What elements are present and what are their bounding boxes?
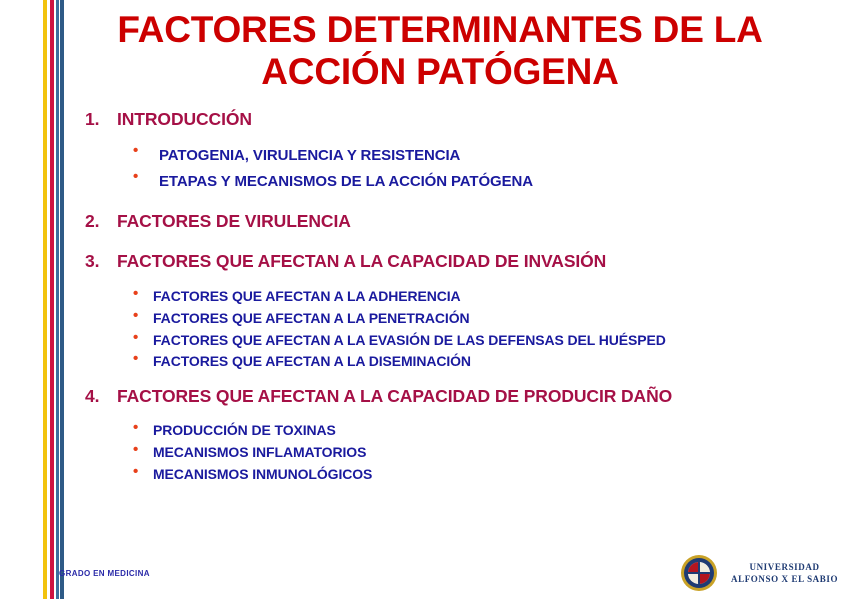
- outline-item-3-sublist: • FACTORES QUE AFECTAN A LA ADHERENCIA •…: [0, 286, 848, 373]
- list-item: • MECANISMOS INMUNOLÓGICOS: [0, 464, 848, 486]
- slide-title: FACTORES DETERMINANTES DE LA ACCIÓN PATÓ…: [70, 9, 810, 93]
- university-logo: UNIVERSIDAD ALFONSO X EL SABIO: [681, 555, 838, 591]
- outline-item-1-title: INTRODUCCIÓN: [117, 108, 767, 130]
- list-item: • PATOGENIA, VIRULENCIA Y RESISTENCIA: [0, 143, 848, 169]
- sub-item-label: MECANISMOS INMUNOLÓGICOS: [153, 464, 753, 486]
- footer-program-label: GRADO EN MEDICINA: [59, 569, 150, 578]
- university-logo-text: UNIVERSIDAD ALFONSO X EL SABIO: [731, 561, 838, 585]
- university-name-line-1: UNIVERSIDAD: [731, 561, 838, 573]
- list-item: • MECANISMOS INFLAMATORIOS: [0, 442, 848, 464]
- spacer-1: [0, 130, 848, 143]
- crest-quarter-bottom-right: [699, 573, 710, 584]
- list-item: • ETAPAS Y MECANISMOS DE LA ACCIÓN PATÓG…: [0, 169, 848, 195]
- outline-body: 1. INTRODUCCIÓN • PATOGENIA, VIRULENCIA …: [0, 108, 848, 485]
- university-name-line-2: ALFONSO X EL SABIO: [731, 573, 838, 585]
- list-item: • FACTORES QUE AFECTAN A LA DISEMINACIÓN: [0, 351, 848, 373]
- bullet-icon: •: [0, 464, 153, 479]
- slide-title-line-2: ACCIÓN PATÓGENA: [70, 51, 810, 93]
- bullet-icon: •: [0, 169, 159, 184]
- sub-item-label: PRODUCCIÓN DE TOXINAS: [153, 420, 753, 442]
- sub-item-label: ETAPAS Y MECANISMOS DE LA ACCIÓN PATÓGEN…: [159, 169, 779, 195]
- outline-item-2: 2. FACTORES DE VIRULENCIA: [0, 210, 848, 232]
- spacer-5: [0, 373, 848, 385]
- sub-item-label: FACTORES QUE AFECTAN A LA DISEMINACIÓN: [153, 351, 753, 373]
- outline-item-3-title: FACTORES QUE AFECTAN A LA CAPACIDAD DE I…: [117, 250, 767, 272]
- bullet-icon: •: [0, 286, 153, 301]
- spacer-2: [0, 194, 848, 210]
- sub-item-label: FACTORES QUE AFECTAN A LA ADHERENCIA: [153, 286, 753, 308]
- outline-item-3: 3. FACTORES QUE AFECTAN A LA CAPACIDAD D…: [0, 250, 848, 272]
- slide: FACTORES DETERMINANTES DE LA ACCIÓN PATÓ…: [0, 0, 848, 599]
- list-item: • FACTORES QUE AFECTAN A LA PENETRACIÓN: [0, 308, 848, 330]
- outline-item-4-sublist: • PRODUCCIÓN DE TOXINAS • MECANISMOS INF…: [0, 420, 848, 485]
- list-item: • FACTORES QUE AFECTAN A LA ADHERENCIA: [0, 286, 848, 308]
- outline-item-1-sublist: • PATOGENIA, VIRULENCIA Y RESISTENCIA • …: [0, 143, 848, 194]
- sub-item-label: PATOGENIA, VIRULENCIA Y RESISTENCIA: [159, 143, 779, 169]
- spacer-3: [0, 233, 848, 250]
- outline-item-4-number: 4.: [0, 385, 117, 407]
- bullet-icon: •: [0, 420, 153, 435]
- bullet-icon: •: [0, 143, 159, 158]
- sub-item-label: MECANISMOS INFLAMATORIOS: [153, 442, 753, 464]
- crest-cross-horizontal: [688, 572, 710, 574]
- outline-item-1: 1. INTRODUCCIÓN: [0, 108, 848, 130]
- crest-shield: [688, 562, 710, 584]
- spacer-6: [0, 407, 848, 420]
- outline-item-3-number: 3.: [0, 250, 117, 272]
- outline-item-2-title: FACTORES DE VIRULENCIA: [117, 210, 767, 232]
- bullet-icon: •: [0, 308, 153, 323]
- outline-item-1-number: 1.: [0, 108, 117, 130]
- outline-item-4-title: FACTORES QUE AFECTAN A LA CAPACIDAD DE P…: [117, 385, 767, 407]
- sub-item-label: FACTORES QUE AFECTAN A LA EVASIÓN DE LAS…: [153, 330, 753, 352]
- university-crest-icon: [681, 555, 717, 591]
- bullet-icon: •: [0, 330, 153, 345]
- list-item: • FACTORES QUE AFECTAN A LA EVASIÓN DE L…: [0, 330, 848, 352]
- bullet-icon: •: [0, 351, 153, 366]
- outline-item-4: 4. FACTORES QUE AFECTAN A LA CAPACIDAD D…: [0, 385, 848, 407]
- spacer-4: [0, 272, 848, 286]
- slide-title-line-1: FACTORES DETERMINANTES DE LA: [70, 9, 810, 51]
- list-item: • PRODUCCIÓN DE TOXINAS: [0, 420, 848, 442]
- sub-item-label: FACTORES QUE AFECTAN A LA PENETRACIÓN: [153, 308, 753, 330]
- outline-item-2-number: 2.: [0, 210, 117, 232]
- bullet-icon: •: [0, 442, 153, 457]
